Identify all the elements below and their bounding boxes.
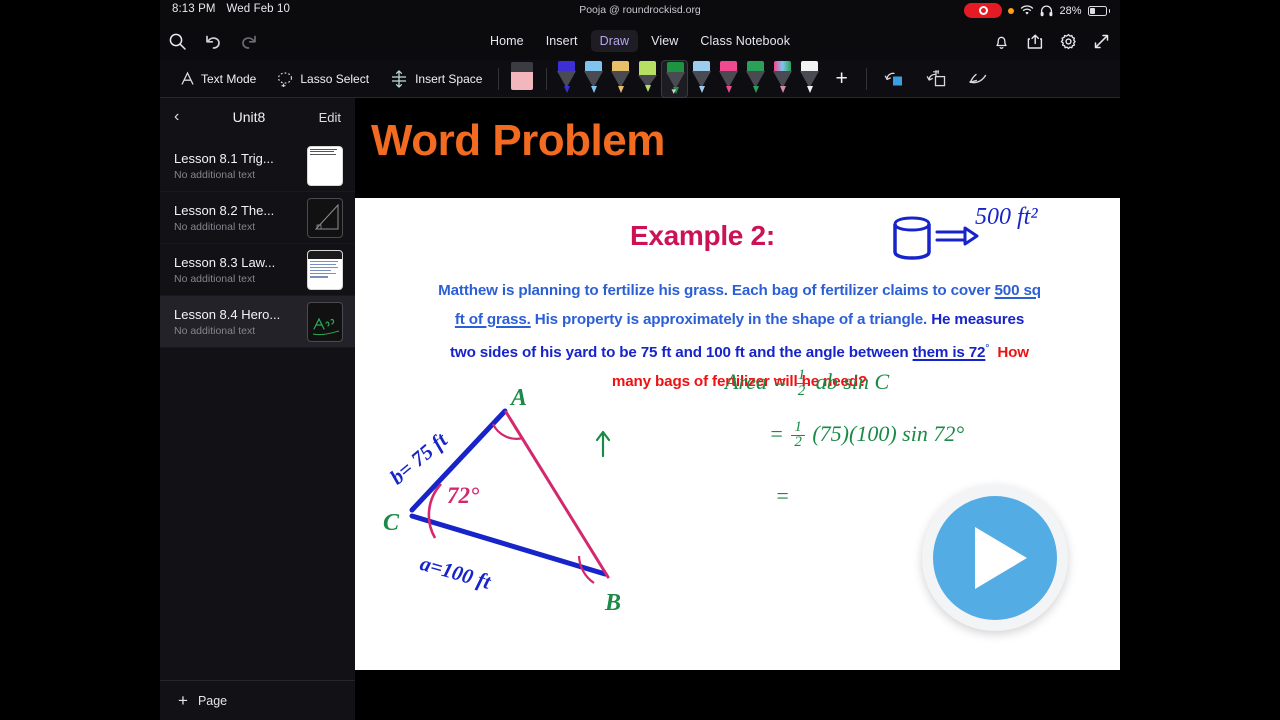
example-heading: Example 2: bbox=[630, 220, 775, 252]
side-a-label: a=100 ft bbox=[417, 551, 494, 594]
screen: 8:13 PM Wed Feb 10 Pooja @ roundrockisd.… bbox=[0, 0, 1280, 720]
ink-replay-button[interactable] bbox=[957, 69, 999, 89]
insert-space-button[interactable]: Insert Space bbox=[379, 69, 492, 89]
insert-space-icon bbox=[389, 69, 409, 89]
sidebar-item-lesson-8-3[interactable]: Lesson 8.3 Law... No additional text bbox=[160, 244, 355, 296]
list-item-subtitle: No additional text bbox=[174, 169, 274, 181]
page-sidebar: ‹ Unit8 Edit Lesson 8.1 Trig... No addit… bbox=[160, 98, 355, 720]
bell-icon[interactable] bbox=[993, 33, 1010, 50]
triangle-diagram: A C B b= 75 ft a=100 ft 72° bbox=[365, 378, 665, 643]
divider bbox=[498, 68, 499, 90]
pen-pink[interactable] bbox=[715, 60, 742, 98]
ink-to-shape-icon bbox=[883, 69, 905, 89]
add-pen-button[interactable]: + bbox=[823, 67, 859, 91]
ink-to-text-icon bbox=[925, 69, 947, 89]
sidebar-title: Unit8 bbox=[233, 109, 266, 125]
edit-button[interactable]: Edit bbox=[319, 110, 341, 125]
list-item-subtitle: No additional text bbox=[174, 273, 275, 285]
note-canvas[interactable]: Word Problem Example 2: 500 ft² bbox=[355, 98, 1120, 720]
problem-line-1: Matthew is planning to fertilize his gra… bbox=[367, 276, 1112, 305]
page-thumbnail[interactable] bbox=[307, 198, 343, 238]
text-mode-icon bbox=[180, 71, 195, 86]
work-line-1-rest: ab sin C bbox=[816, 369, 889, 394]
gear-icon[interactable] bbox=[1060, 33, 1077, 50]
angle-label: 72° bbox=[447, 483, 480, 508]
letterbox-left bbox=[0, 0, 160, 720]
sidebar-item-lesson-8-4[interactable]: Lesson 8.4 Hero... No additional text bbox=[160, 296, 355, 348]
tab-insert[interactable]: Insert bbox=[537, 30, 587, 52]
list-item-title: Lesson 8.3 Law... bbox=[174, 255, 275, 270]
add-page-button[interactable]: + Page bbox=[160, 680, 355, 720]
vertex-label-c: C bbox=[383, 510, 400, 536]
ink-replay-icon bbox=[967, 69, 989, 89]
chevron-down-icon[interactable]: ▾ bbox=[671, 86, 676, 97]
add-page-label: Page bbox=[198, 694, 227, 708]
pen-light-blue[interactable] bbox=[580, 60, 607, 98]
work-line-1: Area = 12 ab sin C bbox=[725, 368, 964, 400]
record-indicator[interactable] bbox=[964, 3, 1002, 18]
work-line-2-lead: = bbox=[769, 420, 784, 445]
battery-icon bbox=[1088, 6, 1111, 16]
header-right-tools bbox=[993, 33, 1110, 50]
list-item-title: Lesson 8.2 The... bbox=[174, 203, 274, 218]
pen-blue-violet[interactable] bbox=[553, 60, 580, 98]
work-line-1-lead: Area = bbox=[725, 369, 787, 394]
play-button[interactable] bbox=[922, 485, 1068, 631]
expand-icon[interactable] bbox=[1093, 33, 1110, 50]
tab-home[interactable]: Home bbox=[481, 30, 533, 52]
back-button[interactable]: ‹ bbox=[174, 108, 179, 126]
headphones-icon bbox=[1040, 5, 1053, 17]
bag-area-annotation: 500 ft² bbox=[975, 204, 1038, 231]
list-item-subtitle: No additional text bbox=[174, 221, 274, 233]
list-item-title: Lesson 8.1 Trig... bbox=[174, 151, 274, 166]
list-item-title: Lesson 8.4 Hero... bbox=[174, 307, 280, 322]
pen-rainbow[interactable] bbox=[769, 60, 796, 98]
status-bar: 8:13 PM Wed Feb 10 Pooja @ roundrockisd.… bbox=[160, 0, 1120, 22]
ribbon-tabs: Home Insert Draw View Class Notebook bbox=[160, 30, 1120, 52]
draw-ribbon: Text Mode Lasso Select Insert Space bbox=[160, 60, 1120, 98]
work-line-2: = 12 (75)(100) sin 72° bbox=[769, 420, 964, 452]
text-mode-label: Text Mode bbox=[201, 72, 256, 86]
sidebar-item-lesson-8-2[interactable]: Lesson 8.2 The... No additional text bbox=[160, 192, 355, 244]
problem-line-2: ft of grass. His property is approximate… bbox=[367, 305, 1112, 334]
page-thumbnail[interactable] bbox=[307, 302, 343, 342]
vertex-label-b: B bbox=[604, 590, 621, 616]
text-mode-button[interactable]: Text Mode bbox=[170, 71, 266, 86]
divider bbox=[546, 68, 547, 90]
play-icon bbox=[975, 527, 1027, 589]
pen-white[interactable] bbox=[796, 60, 823, 98]
insert-space-label: Insert Space bbox=[415, 72, 482, 86]
fraction-one-half: 12 bbox=[795, 368, 809, 400]
sidebar-header: ‹ Unit8 Edit bbox=[160, 98, 355, 136]
fraction-one-half: 12 bbox=[791, 420, 805, 452]
app-header: Home Insert Draw View Class Notebook bbox=[160, 22, 1120, 60]
pen-gold[interactable] bbox=[607, 60, 634, 98]
pen-sky[interactable] bbox=[688, 60, 715, 98]
status-right: 28% bbox=[964, 3, 1110, 18]
pen-green[interactable]: ▾ bbox=[661, 60, 688, 98]
page-title: Word Problem bbox=[371, 116, 665, 166]
pen-emerald[interactable] bbox=[742, 60, 769, 98]
highlighter-lime[interactable] bbox=[634, 60, 661, 98]
letterbox-right bbox=[1120, 0, 1280, 720]
sidebar-item-lesson-8-1[interactable]: Lesson 8.1 Trig... No additional text bbox=[160, 140, 355, 192]
vertex-label-a: A bbox=[509, 385, 527, 411]
page-thumbnail[interactable] bbox=[307, 250, 343, 290]
handwritten-work: Area = 12 ab sin C = 12 (75)(100) sin 72… bbox=[725, 368, 964, 509]
list-item-subtitle: No additional text bbox=[174, 325, 280, 337]
share-icon[interactable] bbox=[1026, 33, 1044, 50]
eraser-tool[interactable] bbox=[509, 62, 536, 96]
orange-privacy-dot bbox=[1008, 8, 1014, 14]
lasso-select-label: Lasso Select bbox=[300, 72, 369, 86]
work-line-3: = bbox=[775, 483, 964, 509]
app-body: ‹ Unit8 Edit Lesson 8.1 Trig... No addit… bbox=[160, 98, 1120, 720]
ipad-screen: 8:13 PM Wed Feb 10 Pooja @ roundrockisd.… bbox=[160, 0, 1120, 720]
divider bbox=[866, 68, 867, 90]
tab-class-notebook[interactable]: Class Notebook bbox=[691, 30, 799, 52]
lasso-select-button[interactable]: Lasso Select bbox=[266, 71, 379, 87]
wifi-icon bbox=[1020, 5, 1034, 16]
ink-to-text-button[interactable] bbox=[915, 69, 957, 89]
pen-tray: ▾ bbox=[553, 60, 823, 98]
tab-view[interactable]: View bbox=[642, 30, 687, 52]
work-line-2-rest: (75)(100) sin 72° bbox=[812, 420, 964, 445]
tab-draw[interactable]: Draw bbox=[591, 30, 639, 52]
ink-to-shape-button[interactable] bbox=[873, 69, 915, 89]
page-thumbnail[interactable] bbox=[307, 146, 343, 186]
plus-icon: + bbox=[178, 692, 188, 709]
battery-percent: 28% bbox=[1059, 5, 1081, 17]
note-page[interactable]: Example 2: 500 ft² M bbox=[355, 198, 1120, 670]
problem-line-3: two sides of his yard to be 75 ft and 10… bbox=[367, 334, 1112, 367]
page-list: Lesson 8.1 Trig... No additional text Le… bbox=[160, 136, 355, 348]
lasso-icon bbox=[276, 71, 294, 87]
play-button-circle bbox=[933, 496, 1057, 620]
